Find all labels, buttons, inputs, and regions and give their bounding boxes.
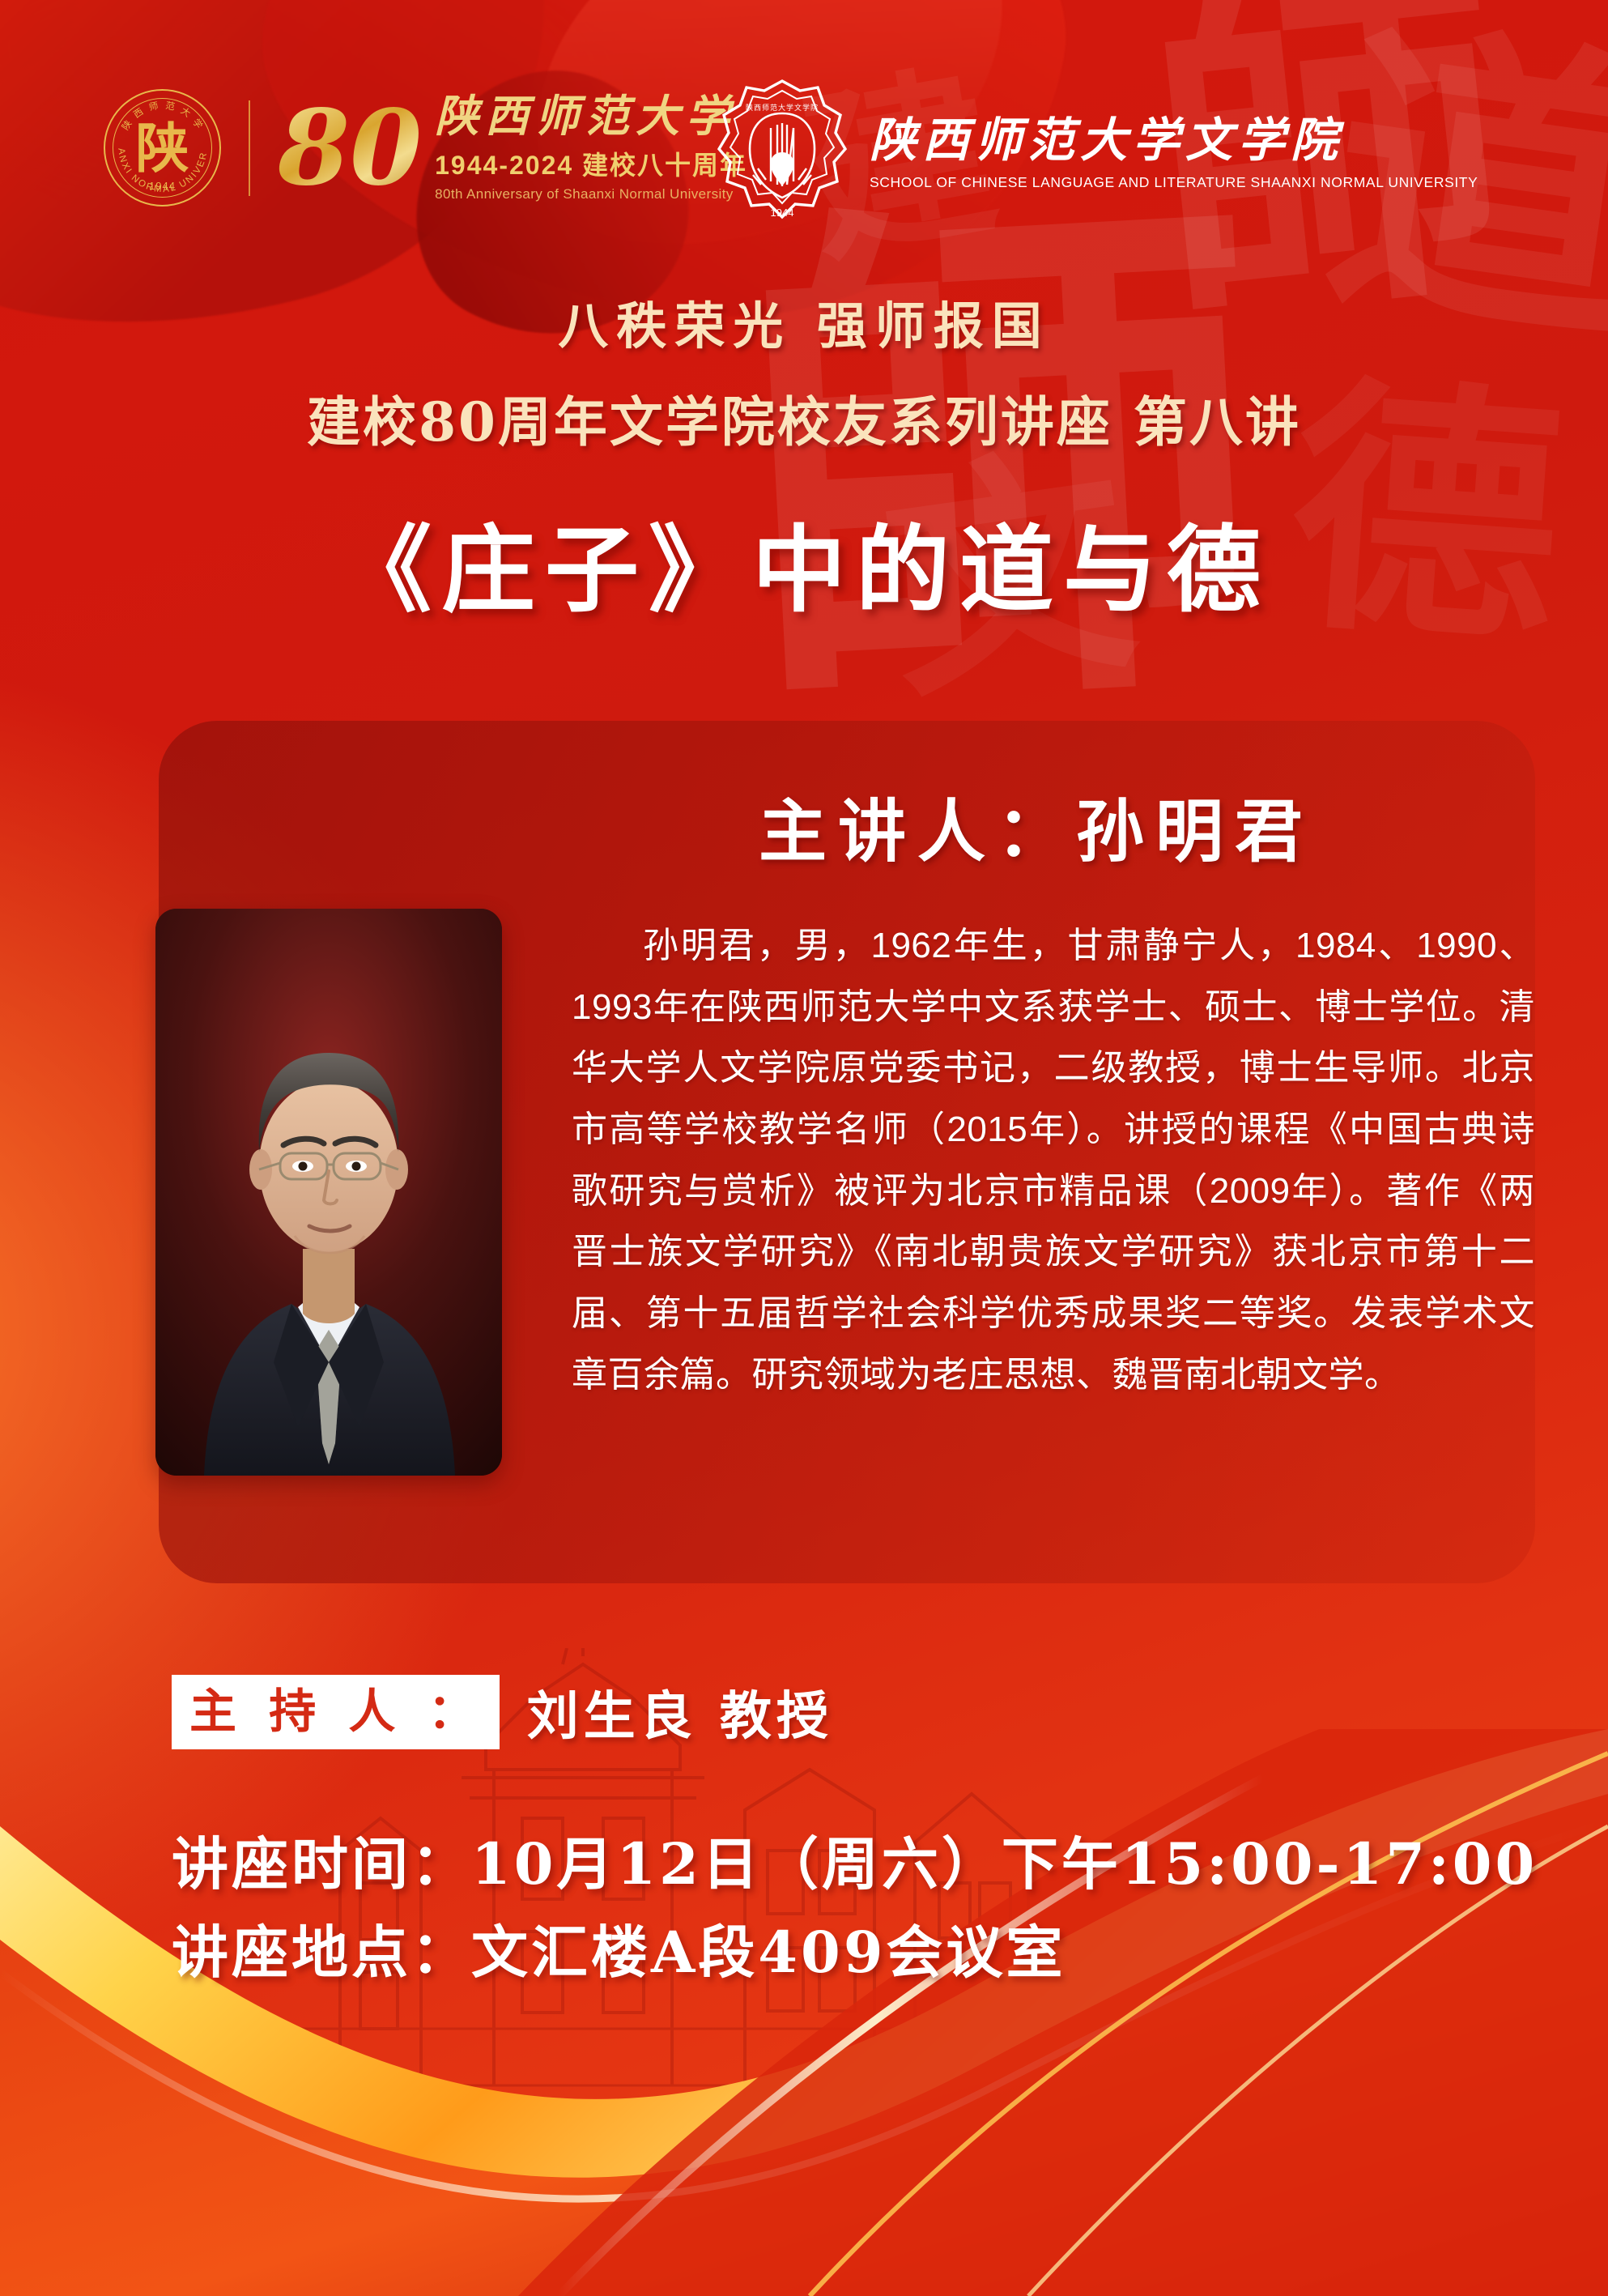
- host-label: 主 持 人 ：: [172, 1675, 500, 1749]
- lecture-place: 讲座地点：文汇楼A段409会议室: [172, 1909, 1538, 1997]
- school-crest-icon: 1944 陕西师范大学文学院: [713, 78, 852, 228]
- speaker-heading: 主讲人：孙明君: [567, 777, 1506, 875]
- host-name: 刘生良 教授: [527, 1675, 833, 1749]
- university-logo-group: 陕 西 师 范 大 学 SHAANXI NORMAL UNIVERSITY 陕 …: [104, 89, 747, 207]
- series-title-block: 八秩荣光 强师报国 建校80周年文学院校友系列讲座 第八讲: [0, 285, 1608, 457]
- university-name-cn: 陕西师范大学: [435, 93, 747, 139]
- lecture-info-block: 讲座时间：10月12日（周六）下午15:00-17:00 讲座地点：文汇楼A段4…: [172, 1821, 1538, 1996]
- poster-header: 陕 西 师 范 大 学 SHAANXI NORMAL UNIVERSITY 陕 …: [0, 0, 1608, 251]
- university-seal-icon: 陕 西 师 范 大 学 SHAANXI NORMAL UNIVERSITY 陕 …: [104, 89, 221, 207]
- svg-text:陕西师范大学文学院: 陕西师范大学文学院: [746, 103, 819, 112]
- seal-center-character: 陕: [136, 121, 189, 175]
- seal-year: 1944: [149, 180, 176, 192]
- series-subtitle: 建校80周年文学院校友系列讲座 第八讲: [0, 379, 1608, 457]
- school-logo-group: 1944 陕西师范大学文学院 陕西师范大学文学院 SCHOOL OF CHINE…: [713, 78, 1478, 228]
- anniversary-years: 1944-2024 建校八十周年: [435, 145, 747, 182]
- university-name-block: 陕西师范大学 1944-2024 建校八十周年 80th Anniversary…: [435, 93, 747, 203]
- school-name-en: SCHOOL OF CHINESE LANGUAGE AND LITERATUR…: [870, 174, 1478, 191]
- school-name-cn: 陕西师范大学文学院: [870, 115, 1478, 167]
- series-slogan: 八秩荣光 强师报国: [0, 285, 1608, 358]
- anniversary-80-mark: 80: [278, 96, 422, 200]
- logo-divider: [249, 100, 250, 196]
- school-name-block: 陕西师范大学文学院 SCHOOL OF CHINESE LANGUAGE AND…: [870, 115, 1478, 192]
- lecture-time: 讲座时间：10月12日（周六）下午15:00-17:00: [172, 1821, 1538, 1909]
- anniversary-en: 80th Anniversary of Shaanxi Normal Unive…: [435, 186, 747, 202]
- svg-text:1944: 1944: [771, 207, 794, 219]
- lecture-title: 《庄子》中的道与德: [0, 494, 1608, 630]
- speaker-bio: 孙明君，男，1962年生，甘肃静宁人，1984、1990、1993年在陕西师范大…: [572, 915, 1535, 1405]
- lecture-poster: 建 師 道 師 德 文: [0, 0, 1608, 2296]
- speaker-portrait-avatar: [155, 909, 502, 1476]
- host-row: 主 持 人 ： 刘生良 教授: [172, 1675, 833, 1749]
- bottom-gold-wave: [0, 1729, 1608, 2296]
